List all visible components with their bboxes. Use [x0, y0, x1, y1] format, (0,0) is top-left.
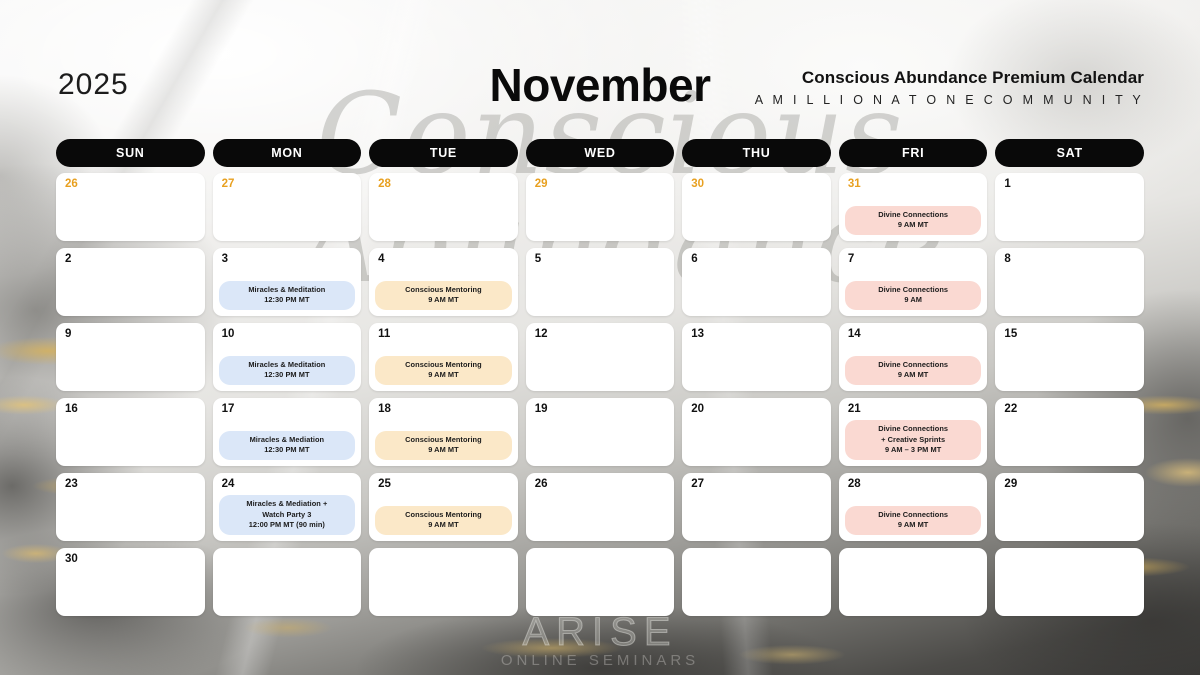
brand-title: Conscious Abundance Premium Calendar [755, 68, 1144, 88]
day-number: 24 [222, 479, 354, 491]
day-number: 11 [378, 329, 510, 341]
day-number: 1 [1004, 179, 1136, 191]
day-number: 17 [222, 404, 354, 416]
calendar-header: 2025 November Conscious Abundance Premiu… [0, 62, 1200, 124]
calendar-day-cell[interactable]: 1 [995, 173, 1144, 241]
weekday-header-fri: FRI [839, 139, 988, 167]
day-number: 29 [535, 179, 667, 191]
day-number: 18 [378, 404, 510, 416]
event-list: Divine Connections 9 AM [845, 281, 982, 310]
calendar-day-cell[interactable]: 26 [56, 173, 205, 241]
calendar-day-cell[interactable]: 2 [56, 248, 205, 316]
calendar-cell-empty[interactable] [369, 548, 518, 616]
event-pill[interactable]: Miracles & Mediation + Watch Party 3 12:… [219, 495, 356, 535]
day-number: 28 [848, 479, 980, 491]
calendar-day-cell[interactable]: 8 [995, 248, 1144, 316]
calendar-day-cell[interactable]: 7Divine Connections 9 AM [839, 248, 988, 316]
day-number: 26 [535, 479, 667, 491]
event-pill[interactable]: Miracles & Meditation 12:30 PM MT [219, 281, 356, 310]
calendar-day-cell[interactable]: 13 [682, 323, 831, 391]
day-number: 14 [848, 329, 980, 341]
calendar-grid: 262728293031Divine Connections 9 AM MT12… [56, 173, 1144, 616]
calendar-day-cell[interactable]: 21Divine Connections + Creative Sprints … [839, 398, 988, 466]
day-number: 15 [1004, 329, 1136, 341]
day-number: 8 [1004, 254, 1136, 266]
calendar-day-cell[interactable]: 31Divine Connections 9 AM MT [839, 173, 988, 241]
calendar-day-cell[interactable]: 10Miracles & Meditation 12:30 PM MT [213, 323, 362, 391]
calendar-day-cell[interactable]: 20 [682, 398, 831, 466]
calendar-day-cell[interactable]: 22 [995, 398, 1144, 466]
calendar-day-cell[interactable]: 28 [369, 173, 518, 241]
day-number: 7 [848, 254, 980, 266]
day-number: 2 [65, 254, 197, 266]
event-pill[interactable]: Divine Connections 9 AM MT [845, 206, 982, 235]
calendar-cell-empty[interactable] [995, 548, 1144, 616]
calendar-day-cell[interactable]: 3Miracles & Meditation 12:30 PM MT [213, 248, 362, 316]
event-list: Miracles & Meditation 12:30 PM MT [219, 356, 356, 385]
day-number: 6 [691, 254, 823, 266]
day-number: 19 [535, 404, 667, 416]
event-list: Conscious Mentoring 9 AM MT [375, 506, 512, 535]
calendar-day-cell[interactable]: 29 [995, 473, 1144, 541]
calendar-day-cell[interactable]: 15 [995, 323, 1144, 391]
weekday-header-row: SUNMONTUEWEDTHUFRISAT [56, 139, 1144, 167]
event-list: Divine Connections 9 AM MT [845, 206, 982, 235]
day-number: 3 [222, 254, 354, 266]
event-list: Conscious Mentoring 9 AM MT [375, 356, 512, 385]
calendar-day-cell[interactable]: 5 [526, 248, 675, 316]
calendar-day-cell[interactable]: 26 [526, 473, 675, 541]
weekday-header-mon: MON [213, 139, 362, 167]
calendar-day-cell[interactable]: 30 [56, 548, 205, 616]
event-pill[interactable]: Conscious Mentoring 9 AM MT [375, 356, 512, 385]
calendar-day-cell[interactable]: 6 [682, 248, 831, 316]
calendar-day-cell[interactable]: 27 [213, 173, 362, 241]
calendar-day-cell[interactable]: 12 [526, 323, 675, 391]
day-number: 21 [848, 404, 980, 416]
weekday-header-sun: SUN [56, 139, 205, 167]
day-number: 12 [535, 329, 667, 341]
event-pill[interactable]: Conscious Mentoring 9 AM MT [375, 431, 512, 460]
event-list: Miracles & Mediation 12:30 PM MT [219, 431, 356, 460]
brand-block: Conscious Abundance Premium Calendar A M… [755, 68, 1144, 107]
day-number: 13 [691, 329, 823, 341]
day-number: 9 [65, 329, 197, 341]
event-pill[interactable]: Miracles & Meditation 12:30 PM MT [219, 356, 356, 385]
weekday-header-wed: WED [526, 139, 675, 167]
event-pill[interactable]: Conscious Mentoring 9 AM MT [375, 281, 512, 310]
calendar-day-cell[interactable]: 25Conscious Mentoring 9 AM MT [369, 473, 518, 541]
event-list: Divine Connections 9 AM MT [845, 356, 982, 385]
calendar-cell-empty[interactable] [526, 548, 675, 616]
calendar-cell-empty[interactable] [839, 548, 988, 616]
day-number: 5 [535, 254, 667, 266]
calendar-page: Conscious Abundance ARISE ONLINE SEMINAR… [0, 0, 1200, 675]
event-pill[interactable]: Miracles & Mediation 12:30 PM MT [219, 431, 356, 460]
day-number: 4 [378, 254, 510, 266]
day-number: 20 [691, 404, 823, 416]
day-number: 28 [378, 179, 510, 191]
calendar-day-cell[interactable]: 18Conscious Mentoring 9 AM MT [369, 398, 518, 466]
day-number: 10 [222, 329, 354, 341]
event-list: Conscious Mentoring 9 AM MT [375, 431, 512, 460]
calendar-day-cell[interactable]: 14Divine Connections 9 AM MT [839, 323, 988, 391]
day-number: 27 [691, 479, 823, 491]
calendar-day-cell[interactable]: 11Conscious Mentoring 9 AM MT [369, 323, 518, 391]
event-pill[interactable]: Conscious Mentoring 9 AM MT [375, 506, 512, 535]
day-number: 26 [65, 179, 197, 191]
event-list: Divine Connections + Creative Sprints 9 … [845, 420, 982, 460]
day-number: 16 [65, 404, 197, 416]
event-pill[interactable]: Divine Connections 9 AM [845, 281, 982, 310]
event-list: Divine Connections 9 AM MT [845, 506, 982, 535]
event-list: Miracles & Mediation + Watch Party 3 12:… [219, 495, 356, 535]
brand-subtitle: A M I L L I O N A T O N E C O M M U N I … [755, 93, 1144, 107]
weekday-header-thu: THU [682, 139, 831, 167]
calendar-day-cell[interactable]: 16 [56, 398, 205, 466]
day-number: 27 [222, 179, 354, 191]
calendar-day-cell[interactable]: 9 [56, 323, 205, 391]
calendar-day-cell[interactable]: 29 [526, 173, 675, 241]
calendar-day-cell[interactable]: 19 [526, 398, 675, 466]
event-list: Miracles & Meditation 12:30 PM MT [219, 281, 356, 310]
weekday-header-tue: TUE [369, 139, 518, 167]
day-number: 25 [378, 479, 510, 491]
day-number: 29 [1004, 479, 1136, 491]
day-number: 23 [65, 479, 197, 491]
day-number: 31 [848, 179, 980, 191]
calendar-day-cell[interactable]: 27 [682, 473, 831, 541]
calendar-day-cell[interactable]: 24Miracles & Mediation + Watch Party 3 1… [213, 473, 362, 541]
event-list: Conscious Mentoring 9 AM MT [375, 281, 512, 310]
calendar-day-cell[interactable]: 30 [682, 173, 831, 241]
calendar-cell-empty[interactable] [682, 548, 831, 616]
day-number: 30 [691, 179, 823, 191]
day-number: 22 [1004, 404, 1136, 416]
event-pill[interactable]: Divine Connections 9 AM MT [845, 506, 982, 535]
calendar-content: 2025 November Conscious Abundance Premiu… [0, 0, 1200, 675]
calendar-cell-empty[interactable] [213, 548, 362, 616]
day-number: 30 [65, 554, 197, 566]
calendar-day-cell[interactable]: 23 [56, 473, 205, 541]
weekday-header-sat: SAT [995, 139, 1144, 167]
calendar-day-cell[interactable]: 17Miracles & Mediation 12:30 PM MT [213, 398, 362, 466]
calendar-day-cell[interactable]: 4Conscious Mentoring 9 AM MT [369, 248, 518, 316]
calendar-day-cell[interactable]: 28Divine Connections 9 AM MT [839, 473, 988, 541]
event-pill[interactable]: Divine Connections 9 AM MT [845, 356, 982, 385]
event-pill[interactable]: Divine Connections + Creative Sprints 9 … [845, 420, 982, 460]
